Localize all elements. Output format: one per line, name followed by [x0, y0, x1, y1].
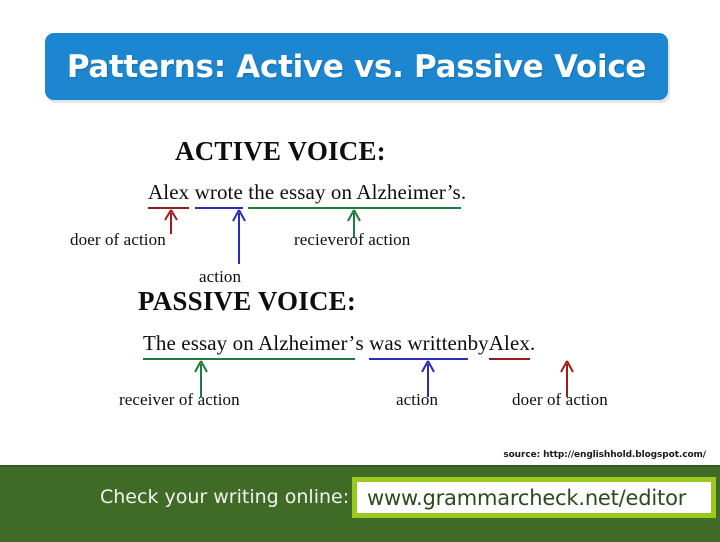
active-subject: Alex	[148, 180, 189, 209]
passive-subject-label: receiver of action	[119, 390, 240, 410]
passive-agent-label: doer of action	[512, 390, 608, 410]
source-credit: source: http://englishhold.blogspot.com/	[503, 450, 706, 460]
slide-title-banner: Patterns: Active vs. Passive Voice	[45, 33, 668, 100]
passive-verb-label: action	[396, 390, 438, 410]
page-title: Patterns: Active vs. Passive Voice	[67, 49, 646, 85]
active-voice-sentence: Alex wrote the essay on Alzheimer’s.	[148, 180, 466, 209]
passive-period: .	[530, 331, 535, 358]
passive-voice-heading: PASSIVE VOICE:	[138, 286, 356, 317]
passive-voice-sentence: The essay on Alzheimer’s was written by …	[143, 331, 535, 360]
active-voice-heading: ACTIVE VOICE:	[175, 136, 386, 167]
footer-label: Check your writing online:	[100, 486, 349, 508]
passive-subject-tail: s	[355, 331, 363, 358]
passive-subject: The essay on Alzheimer’	[143, 331, 355, 360]
active-verb-label: action	[199, 267, 241, 287]
active-period: .	[461, 180, 466, 207]
url-text: www.grammarcheck.net/editor	[357, 486, 686, 510]
active-object: the essay on Alzheimer’s	[248, 180, 461, 209]
active-verb-arrow	[228, 208, 250, 264]
url-box[interactable]: www.grammarcheck.net/editor	[352, 477, 716, 518]
passive-connector: by	[468, 331, 489, 358]
active-object-label: recieverof action	[294, 230, 410, 250]
active-subject-label: doer of action	[70, 230, 166, 250]
passive-verb: was written	[369, 331, 468, 360]
active-verb: wrote	[195, 180, 243, 209]
passive-agent: Alex	[489, 331, 530, 360]
voice-diagram: ACTIVE VOICE: Alex wrote the essay on Al…	[0, 120, 720, 450]
